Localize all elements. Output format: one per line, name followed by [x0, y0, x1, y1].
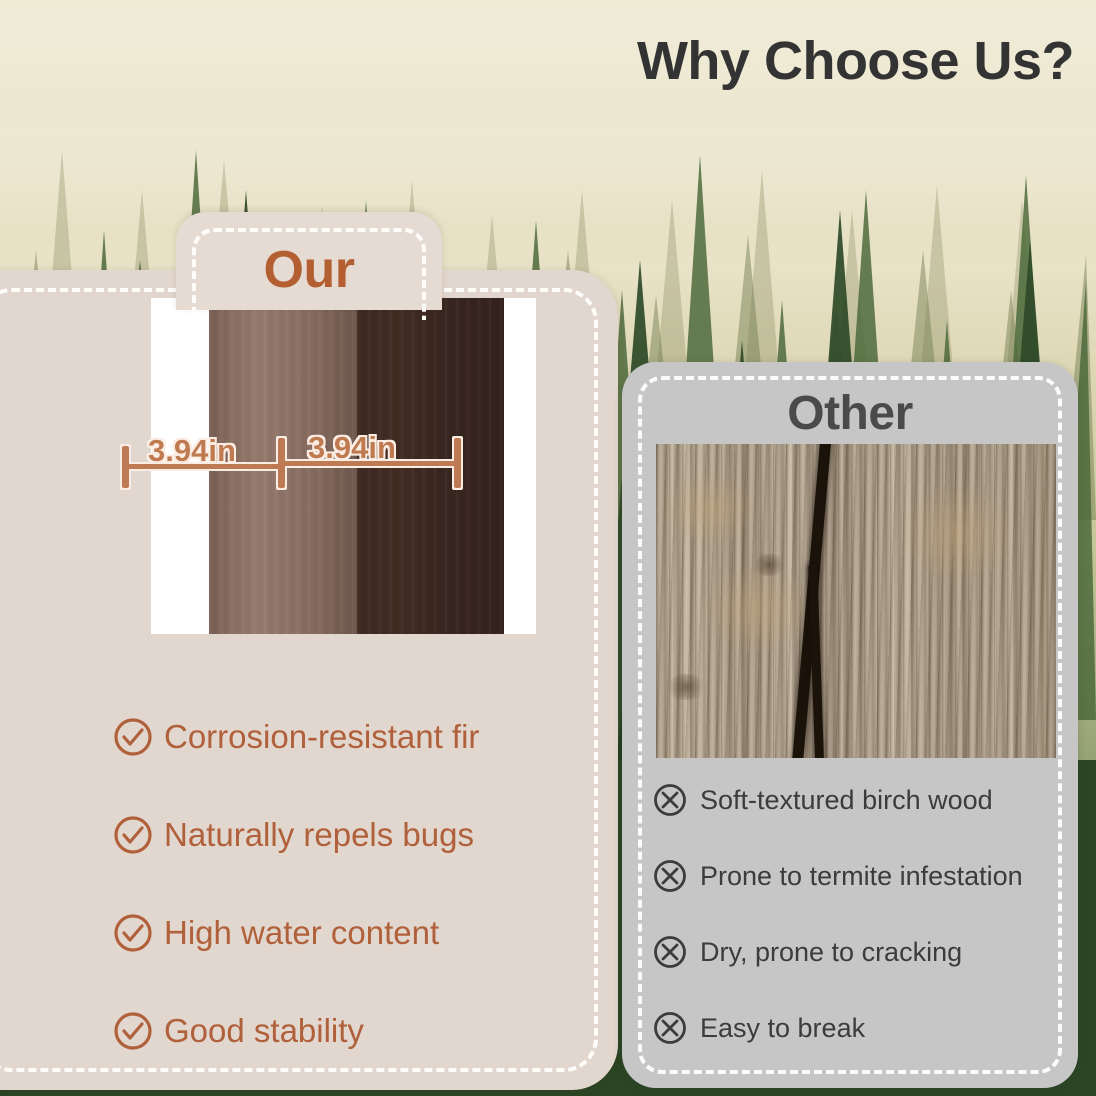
x-circle-icon	[652, 934, 688, 970]
list-item-label: Good stability	[164, 1012, 364, 1050]
wood-blotch	[704, 564, 814, 654]
list-item-label: Prone to termite infestation	[700, 861, 1023, 892]
check-circle-icon	[112, 716, 154, 758]
x-circle-icon	[652, 858, 688, 894]
list-item: Good stability	[112, 982, 582, 1080]
check-circle-icon	[112, 912, 154, 954]
list-item-label: Naturally repels bugs	[164, 816, 474, 854]
wood-knot	[752, 554, 786, 576]
wood-blotch	[896, 484, 1016, 584]
dimension-label-left: 3.94in	[148, 433, 236, 468]
check-circle-icon	[112, 814, 154, 856]
list-item: Naturally repels bugs	[112, 786, 582, 884]
dimension-annotation-svg: 3.94in 3.94in	[120, 432, 470, 494]
check-circle-icon	[112, 1010, 154, 1052]
list-item-label: High water content	[164, 914, 439, 952]
dimension-annotation: 3.94in 3.94in	[120, 432, 470, 494]
x-circle-icon	[652, 782, 688, 818]
x-circle-icon	[652, 1010, 688, 1046]
wood-blotch	[666, 474, 756, 544]
other-feature-list: Soft-textured birch wood Prone to termit…	[652, 762, 1072, 1066]
list-item-label: Easy to break	[700, 1013, 865, 1044]
dimension-label-right: 3.94in	[308, 430, 396, 465]
our-tab-label: Our	[176, 240, 442, 300]
wood-knot	[666, 674, 706, 700]
page-title: Why Choose Us?	[637, 30, 1074, 92]
list-item-label: Soft-textured birch wood	[700, 785, 993, 816]
list-item: Prone to termite infestation	[652, 838, 1072, 914]
list-item-label: Corrosion-resistant fir	[164, 718, 479, 756]
list-item: Dry, prone to cracking	[652, 914, 1072, 990]
our-feature-list: Corrosion-resistant fir Naturally repels…	[112, 688, 582, 1080]
list-item: Soft-textured birch wood	[652, 762, 1072, 838]
list-item-label: Dry, prone to cracking	[700, 937, 962, 968]
list-item: Corrosion-resistant fir	[112, 688, 582, 786]
list-item: High water content	[112, 884, 582, 982]
other-tab-label: Other	[622, 386, 1078, 441]
our-panel-tab[interactable]: Our	[176, 212, 442, 310]
cracked-weathered-wood-photo	[656, 444, 1056, 758]
list-item: Easy to break	[652, 990, 1072, 1066]
